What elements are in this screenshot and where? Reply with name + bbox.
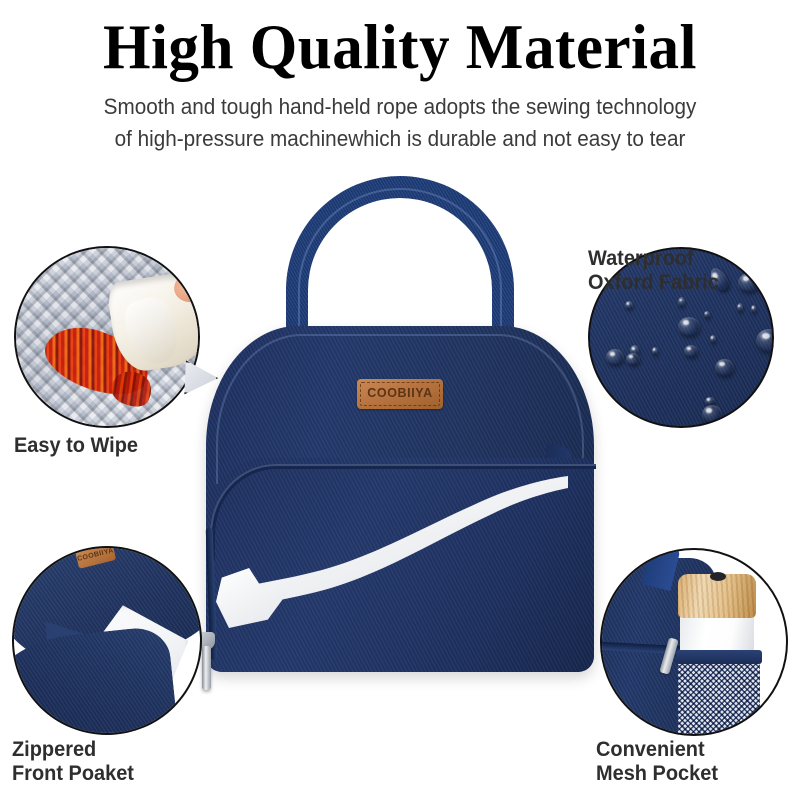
water-droplet [702, 405, 722, 424]
mesh-pocket-netting [678, 662, 760, 736]
water-droplet [704, 311, 710, 319]
water-droplet [606, 349, 624, 366]
brand-patch: COOBIIYA [357, 379, 443, 409]
main-product-image: COOBIIYA [180, 176, 620, 676]
water-droplet [678, 297, 685, 308]
callout-image-zippered-pocket: COOBIIYA [12, 546, 202, 735]
water-droplet [684, 345, 698, 358]
subtitle-line-1: Smooth and tough hand-held rope adopts t… [32, 91, 768, 123]
water-droplet [715, 359, 734, 377]
water-droplet [625, 301, 633, 310]
page-title: High Quality Material [12, 0, 788, 79]
water-droplet [751, 305, 756, 314]
water-droplet [710, 335, 716, 344]
pocket-zipper-track [210, 464, 596, 560]
water-droplet [678, 317, 700, 337]
bottle-cap-knob [710, 572, 726, 581]
header-block: High Quality Material Smooth and tough h… [0, 0, 800, 155]
water-droplet [652, 347, 658, 356]
callout-image-easy-to-wipe [14, 246, 200, 428]
water-droplet [626, 353, 640, 366]
product-infographic: High Quality Material Smooth and tough h… [0, 0, 800, 800]
mesh-pocket-band [676, 650, 762, 664]
brand-patch-label: COOBIIYA [357, 386, 443, 400]
subtitle-line-2: of high-pressure machinewhich is durable… [32, 123, 768, 155]
water-droplet [738, 273, 760, 293]
page-subtitle: Smooth and tough hand-held rope adopts t… [32, 79, 768, 155]
water-droplet [737, 303, 743, 313]
callout-image-mesh-pocket [600, 548, 788, 736]
pocket-zipper-pull [202, 646, 211, 690]
brand-patch-partial: COOBIIYA [75, 546, 116, 569]
